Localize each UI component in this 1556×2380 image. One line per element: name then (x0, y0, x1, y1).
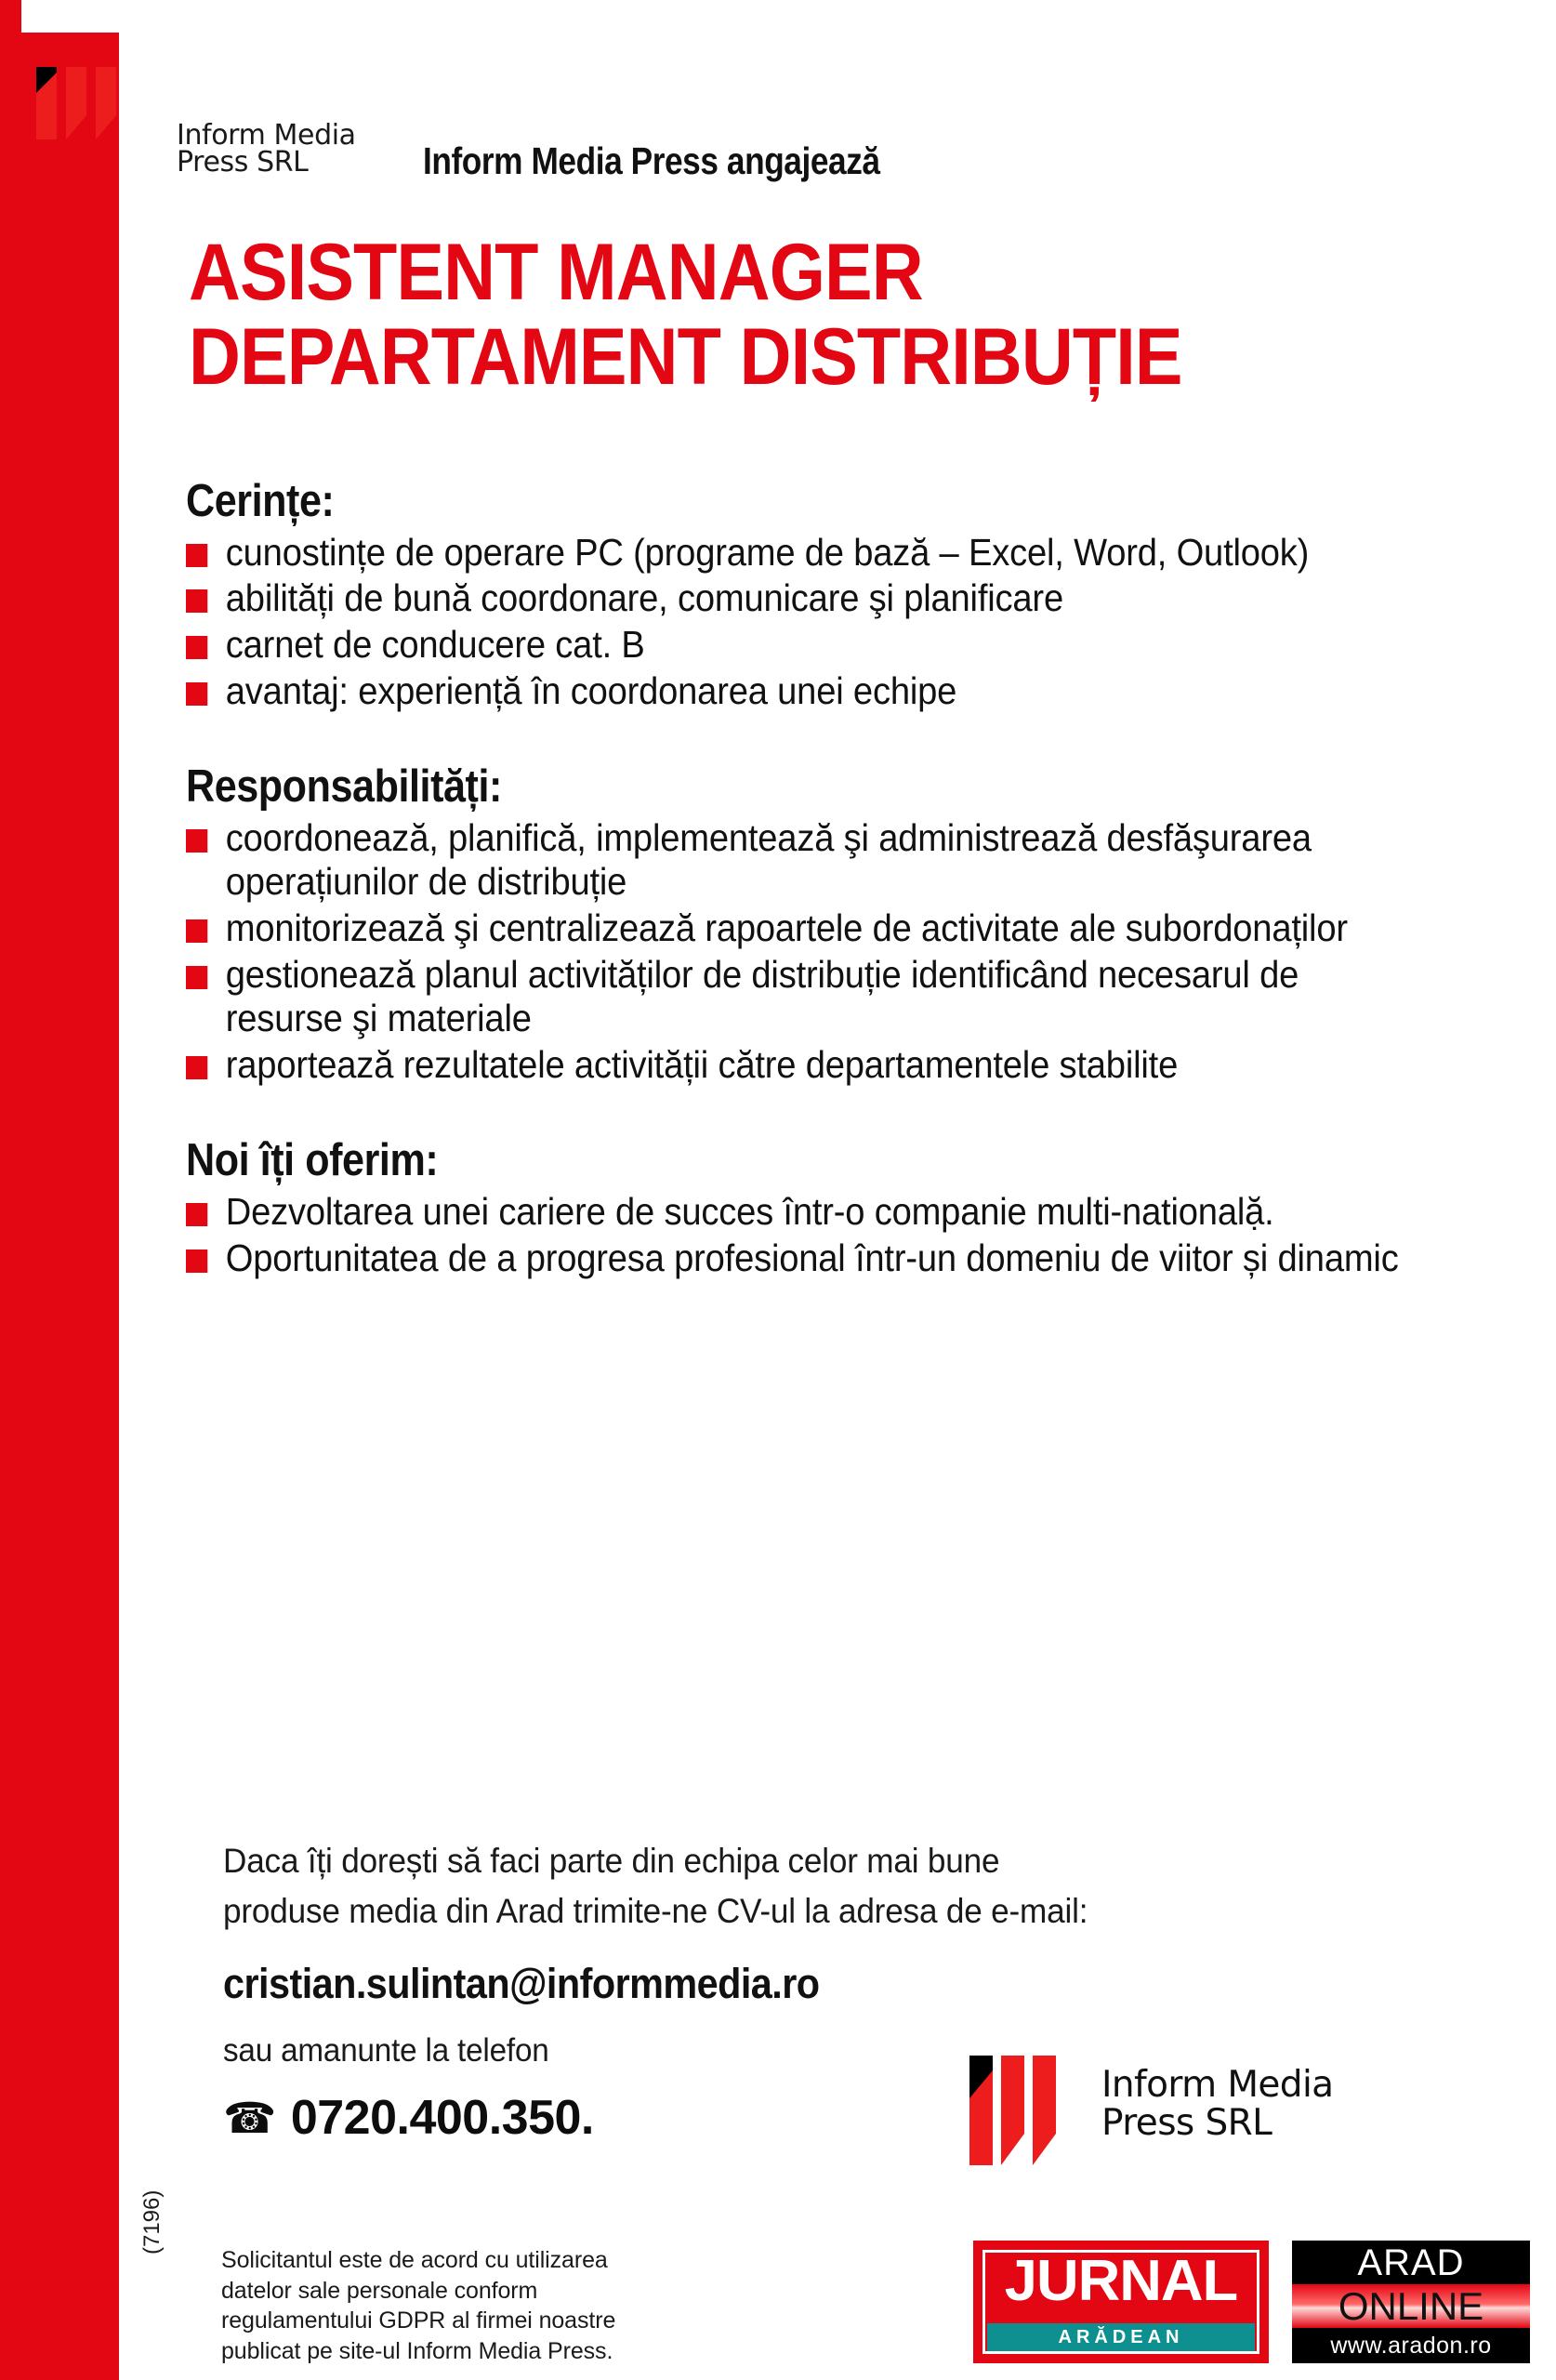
inform-media-logo-mark-icon (962, 2050, 1074, 2169)
section-noi-iti-oferim: Noi îți oferim: Dezvoltarea unei cariere… (186, 1135, 1515, 1280)
sections-container: Cerințe: cunostințe de operare PC (progr… (186, 476, 1515, 1282)
list-item: cunostințe de operare PC (programe de ba… (186, 531, 1422, 575)
contact-email[interactable]: cristian.sulintan@informmedia.ro (223, 1960, 1190, 2008)
list-item-text: monitorizează şi centralizează rapoartel… (226, 906, 1348, 949)
offers-list: Dezvoltarea unei cariere de succes într-… (186, 1190, 1515, 1280)
bullet-square-icon (186, 589, 207, 613)
left-red-bar (0, 0, 119, 2380)
list-item: coordonează, planifică, implementează şi… (186, 816, 1422, 905)
footer-logo-line1: Inform Media (1101, 2066, 1333, 2104)
inform-media-logo-mark-icon (25, 50, 127, 143)
contact-intro-line1: Daca îți dorești să faci parte din echip… (223, 1836, 1221, 1886)
list-item-text: cunostințe de operare PC (programe de ba… (226, 531, 1309, 574)
list-item: abilități de bună coordonare, comunicare… (186, 576, 1422, 621)
jurnal-aradean-logo: JURNAL ARĂDEAN (973, 2241, 1269, 2363)
footer-inform-media-logo: Inform Media Press SRL (962, 2050, 1520, 2185)
list-item-text: abilități de bună coordonare, comunicare… (226, 576, 1063, 619)
section-heading: Noi îți oferim: (186, 1135, 1355, 1186)
arad-online-logo: ARAD ONLINE www.aradon.ro (1292, 2241, 1530, 2363)
list-item-text: carnet de conducere cat. B (226, 623, 645, 666)
poster-header: Inform Media Press SRL Inform Media Pres… (0, 26, 1556, 147)
bullet-square-icon (186, 1249, 207, 1273)
bullet-square-icon (186, 636, 207, 659)
footer-logo-line2: Press SRL (1101, 2104, 1333, 2142)
list-item: avantaj: experiență în coordonarea unei … (186, 669, 1422, 714)
list-item-text: Oportunitatea de a progresa profesional … (226, 1236, 1399, 1279)
jurnal-wordmark: JURNAL (975, 2253, 1267, 2310)
print-code: (7196) (139, 2190, 165, 2254)
telephone-icon: ☎ (223, 2096, 276, 2139)
logo-wordmark-line1: Inform Media (177, 122, 356, 149)
contact-phone-number[interactable]: 0720.400.350. (291, 2090, 594, 2146)
list-item-text: coordonează, planifică, implementează şi… (226, 816, 1312, 904)
list-item: raportează rezultatele activității către… (186, 1043, 1422, 1088)
arad-online-url: www.aradon.ro (1292, 2328, 1530, 2363)
list-item-text: gestionează planul activităților de dist… (226, 953, 1299, 1040)
list-item: Dezvoltarea unei cariere de succes într-… (186, 1190, 1422, 1235)
list-item: carnet de conducere cat. B (186, 623, 1422, 668)
job-advert-poster: Inform Media Press SRL Inform Media Pres… (0, 0, 1556, 2380)
jurnal-aradean-band: ARĂDEAN (987, 2323, 1255, 2351)
page-title: ASISTENT MANAGER DEPARTAMENT DISTRIBUȚIE (189, 231, 1385, 400)
page-title-line2: DEPARTAMENT DISTRIBUȚIE (189, 315, 1385, 400)
contact-intro-line2: produse media din Arad trimite-ne CV-ul … (223, 1886, 1221, 1937)
requirements-list: cunostințe de operare PC (programe de ba… (186, 531, 1515, 713)
bullet-square-icon (186, 829, 207, 853)
arad-online-mid-word: ONLINE (1292, 2284, 1530, 2328)
section-heading: Cerințe: (186, 476, 1355, 527)
list-item: Oportunitatea de a progresa profesional … (186, 1236, 1422, 1281)
bullet-square-icon (186, 919, 207, 943)
footer-logo-wordmark: Inform Media Press SRL (1101, 2066, 1333, 2143)
bullet-square-icon (186, 966, 207, 989)
logo-wordmark-line2: Press SRL (177, 149, 356, 176)
bullet-square-icon (186, 682, 207, 706)
page-title-line1: ASISTENT MANAGER (189, 231, 1385, 315)
section-responsabilitati: Responsabilități: coordonează, planifică… (186, 761, 1515, 1087)
list-item-text: Dezvoltarea unei cariere de succes într-… (226, 1190, 1274, 1233)
bullet-square-icon (186, 1056, 207, 1079)
list-item-text: avantaj: experiență în coordonarea unei … (226, 669, 956, 712)
list-item: monitorizează şi centralizează rapoartel… (186, 906, 1422, 951)
section-heading: Responsabilități: (186, 761, 1355, 813)
gdpr-notice: Solicitantul este de acord cu utilizarea… (221, 2245, 658, 2366)
responsibilities-list: coordonează, planifică, implementează şi… (186, 816, 1515, 1087)
logo-wordmark: Inform Media Press SRL (177, 122, 356, 177)
section-cerinte: Cerințe: cunostințe de operare PC (progr… (186, 476, 1515, 713)
header-kicker: Inform Media Press angajează (423, 139, 880, 183)
arad-online-top-word: ARAD (1292, 2242, 1530, 2283)
list-item: gestionează planul activităților de dist… (186, 953, 1422, 1041)
bullet-square-icon (186, 1203, 207, 1226)
list-item-text: raportează rezultatele activității către… (226, 1043, 1178, 1086)
bullet-square-icon (186, 544, 207, 567)
